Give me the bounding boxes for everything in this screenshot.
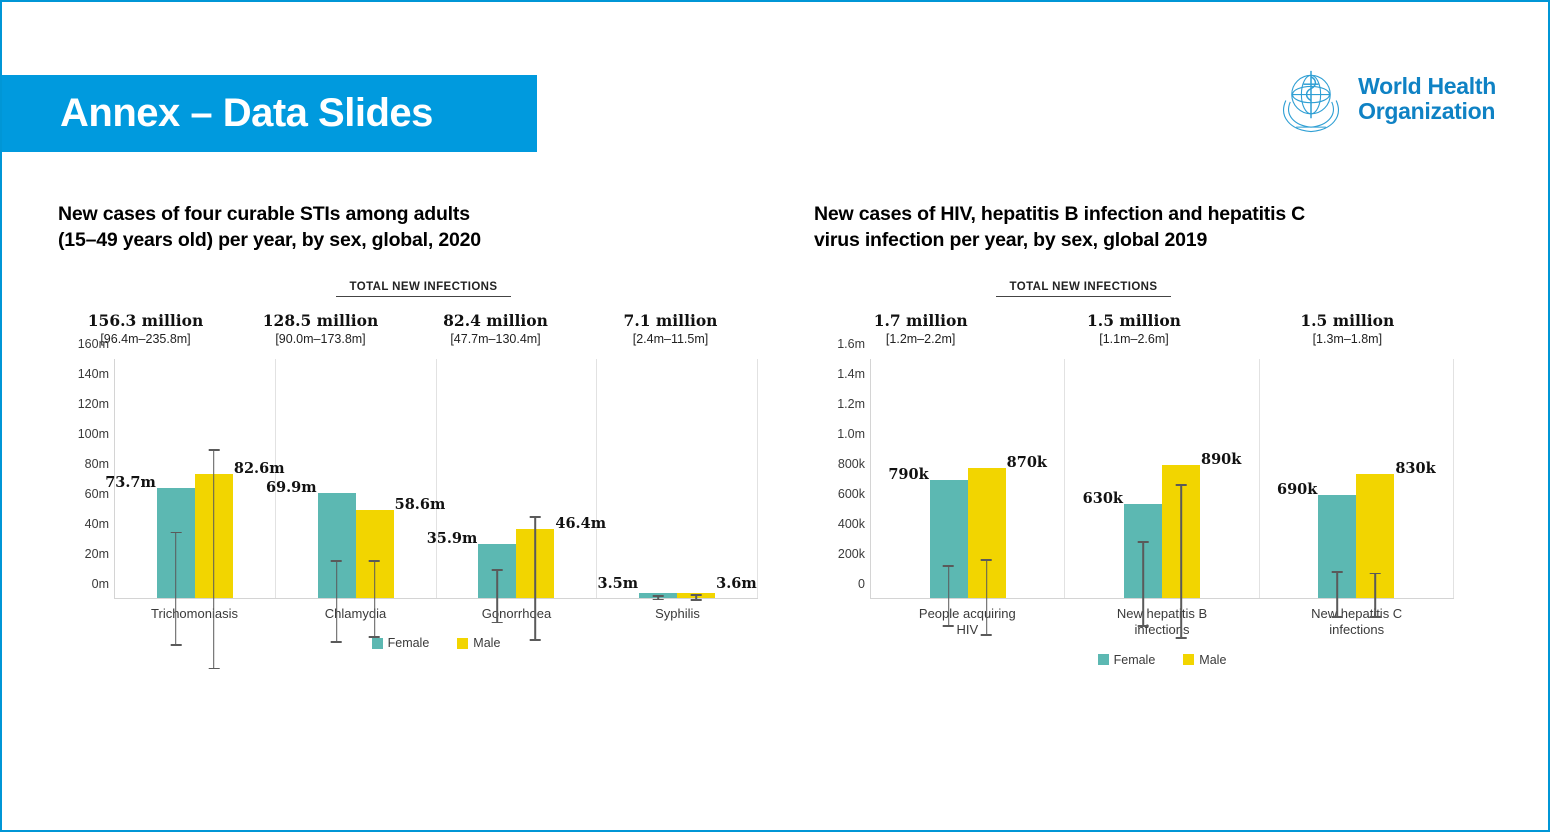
y-axis-tick-label: 1.0m (837, 427, 865, 441)
error-bar (213, 449, 215, 670)
error-bar (657, 595, 659, 600)
panel-curable-stis: New cases of four curable STIs among adu… (58, 202, 758, 650)
bar-chart-left: 0m20m40m60m80m100m120m140m160m 73.7m82.6… (58, 359, 758, 650)
error-bar (1142, 541, 1144, 627)
total-value: 7.1 million (583, 311, 758, 330)
legend-label: Female (1114, 653, 1156, 667)
error-bar (1375, 573, 1377, 618)
x-axis-labels-right: People acquiring HIVNew hepatitis B infe… (870, 606, 1454, 639)
error-bar (695, 594, 697, 600)
bar-value-label: 790k (888, 466, 928, 483)
y-axis-tick-label: 1.4m (837, 367, 865, 381)
error-bar (374, 560, 376, 638)
bar-male[interactable]: 890k (1162, 465, 1200, 599)
bar-female[interactable]: 73.7m (157, 488, 195, 599)
bar-group: 790k870k (871, 359, 1065, 598)
legend-swatch-icon (1183, 654, 1194, 665)
y-axis-tick-label: 0m (92, 577, 109, 591)
legend-item[interactable]: Female (372, 636, 430, 650)
total-confidence-interval: [1.3m–1.8m] (1241, 331, 1454, 347)
error-bar (986, 559, 988, 636)
x-axis-category-label: New hepatitis C infections (1259, 606, 1454, 639)
legend-label: Male (1199, 653, 1226, 667)
bar-value-label: 3.6m (716, 575, 757, 592)
bar-value-label: 3.5m (598, 575, 639, 592)
bar-value-label: 830k (1395, 460, 1435, 477)
y-axis-tick-label: 100m (78, 427, 109, 441)
legend-item[interactable]: Male (1183, 653, 1226, 667)
bar-value-label: 890k (1201, 451, 1241, 468)
bar-value-label: 630k (1083, 490, 1123, 507)
bar-group: 73.7m82.6m (115, 359, 276, 598)
error-bar (1337, 571, 1339, 618)
y-axis-tick-label: 20m (85, 547, 109, 561)
plot-area-right: 0200k400k600k800k1.0m1.2m1.4m1.6m 790k87… (870, 359, 1454, 599)
who-wordmark-line1: World Health (1358, 74, 1496, 99)
error-bar (535, 516, 537, 641)
bar-group: 35.9m46.4m (437, 359, 598, 598)
total-confidence-interval: [2.4m–11.5m] (583, 331, 758, 347)
bar-value-label: 690k (1277, 481, 1317, 498)
totals-row-right: 1.7 million[1.2m–2.2m]1.5 million[1.1m–2… (814, 311, 1454, 347)
total-new-infections-cell: 1.5 million[1.3m–1.8m] (1241, 311, 1454, 347)
error-bar (1180, 484, 1182, 639)
who-wordmark-line2: Organization (1358, 99, 1496, 124)
bar-male[interactable]: 870k (968, 468, 1006, 599)
bar-value-label: 69.9m (266, 479, 317, 496)
bar-male[interactable]: 46.4m (516, 529, 554, 599)
y-axis-tick-label: 40m (85, 517, 109, 531)
error-bar (175, 532, 177, 646)
x-axis-category-label: Chlamydia (275, 606, 436, 622)
error-bar (948, 565, 950, 627)
total-value: 82.4 million (408, 311, 583, 330)
bar-female[interactable]: 69.9m (318, 493, 356, 598)
legend-right: FemaleMale (870, 653, 1454, 667)
bar-groups-right: 790k870k630k890k690k830k (871, 359, 1454, 598)
x-axis-category-label: Syphilis (597, 606, 758, 622)
bar-chart-right: 0200k400k600k800k1.0m1.2m1.4m1.6m 790k87… (814, 359, 1454, 667)
legend-swatch-icon (457, 638, 468, 649)
total-new-infections-cell: 7.1 million[2.4m–11.5m] (583, 311, 758, 347)
totals-header-right: TOTAL NEW INFECTIONS (996, 281, 1171, 297)
total-value: 1.5 million (1241, 311, 1454, 330)
y-axis-tick-label: 200k (838, 547, 865, 561)
bar-group: 3.5m3.6m (597, 359, 758, 598)
bar-female[interactable]: 630k (1124, 504, 1162, 599)
total-value: 1.7 million (814, 311, 1027, 330)
total-confidence-interval: [96.4m–235.8m] (58, 331, 233, 347)
total-new-infections-cell: 1.7 million[1.2m–2.2m] (814, 311, 1027, 347)
bar-group: 630k890k (1065, 359, 1259, 598)
bar-group: 690k830k (1260, 359, 1454, 598)
total-confidence-interval: [90.0m–173.8m] (233, 331, 408, 347)
totals-header-left: TOTAL NEW INFECTIONS (336, 281, 511, 297)
total-new-infections-cell: 1.5 million[1.1m–2.6m] (1027, 311, 1240, 347)
bar-male[interactable]: 58.6m (356, 510, 394, 598)
bar-value-label: 870k (1007, 454, 1047, 471)
slide-canvas: Annex – Data Slides World Health Organi (0, 0, 1550, 832)
legend-item[interactable]: Male (457, 636, 500, 650)
plot-area-left: 0m20m40m60m80m100m120m140m160m 73.7m82.6… (114, 359, 758, 599)
x-axis-category-label: Trichomoniasis (114, 606, 275, 622)
bar-value-label: 73.7m (105, 474, 156, 491)
legend-label: Male (473, 636, 500, 650)
totals-strip-right: TOTAL NEW INFECTIONS 1.7 million[1.2m–2.… (814, 281, 1454, 347)
y-axis-tick-label: 80m (85, 457, 109, 471)
slide-title-banner: Annex – Data Slides (2, 75, 537, 152)
bar-male[interactable]: 830k (1356, 474, 1394, 599)
y-axis-tick-label: 400k (838, 517, 865, 531)
who-emblem-icon (1274, 62, 1348, 136)
total-value: 128.5 million (233, 311, 408, 330)
bar-female[interactable]: 35.9m (478, 544, 516, 598)
bar-female[interactable]: 690k (1318, 495, 1356, 599)
y-axis-tick-label: 600k (838, 487, 865, 501)
total-confidence-interval: [47.7m–130.4m] (408, 331, 583, 347)
chart-title-right: New cases of HIV, hepatitis B infection … (814, 202, 1454, 253)
bar-female[interactable]: 3.5m (639, 593, 677, 598)
panel-hiv-hepatitis: New cases of HIV, hepatitis B infection … (814, 202, 1454, 667)
totals-strip-left: TOTAL NEW INFECTIONS 156.3 million[96.4m… (58, 281, 758, 347)
page-title: Annex – Data Slides (2, 91, 433, 136)
legend-swatch-icon (372, 638, 383, 649)
bar-groups-left: 73.7m82.6m69.9m58.6m35.9m46.4m3.5m3.6m (115, 359, 758, 598)
x-axis-category-label: New hepatitis B infections (1065, 606, 1260, 639)
total-value: 156.3 million (58, 311, 233, 330)
y-axis-tick-label: 800k (838, 457, 865, 471)
bar-female[interactable]: 790k (930, 480, 968, 599)
total-new-infections-cell: 156.3 million[96.4m–235.8m] (58, 311, 233, 347)
y-axis-tick-label: 140m (78, 367, 109, 381)
bar-male[interactable]: 82.6m (195, 474, 233, 598)
legend-label: Female (388, 636, 430, 650)
total-value: 1.5 million (1027, 311, 1240, 330)
totals-row-left: 156.3 million[96.4m–235.8m]128.5 million… (58, 311, 758, 347)
y-axis-tick-label: 1.2m (837, 397, 865, 411)
x-axis-category-label: Gonorrhoea (436, 606, 597, 622)
who-wordmark: World Health Organization (1358, 74, 1496, 124)
bar-value-label: 35.9m (427, 530, 478, 547)
legend-swatch-icon (1098, 654, 1109, 665)
bar-group: 69.9m58.6m (276, 359, 437, 598)
total-confidence-interval: [1.1m–2.6m] (1027, 331, 1240, 347)
who-logo: World Health Organization (1274, 62, 1496, 136)
y-axis-tick-label: 0 (858, 577, 865, 591)
x-axis-labels-left: TrichomoniasisChlamydiaGonorrhoeaSyphili… (114, 606, 758, 622)
error-bar (497, 569, 499, 623)
legend-left: FemaleMale (114, 636, 758, 650)
total-new-infections-cell: 82.4 million[47.7m–130.4m] (408, 311, 583, 347)
bar-male[interactable]: 3.6m (677, 593, 715, 598)
total-confidence-interval: [1.2m–2.2m] (814, 331, 1027, 347)
y-axis-tick-label: 120m (78, 397, 109, 411)
chart-title-left: New cases of four curable STIs among adu… (58, 202, 758, 253)
total-new-infections-cell: 128.5 million[90.0m–173.8m] (233, 311, 408, 347)
error-bar (336, 560, 338, 643)
legend-item[interactable]: Female (1098, 653, 1156, 667)
x-axis-category-label: People acquiring HIV (870, 606, 1065, 639)
